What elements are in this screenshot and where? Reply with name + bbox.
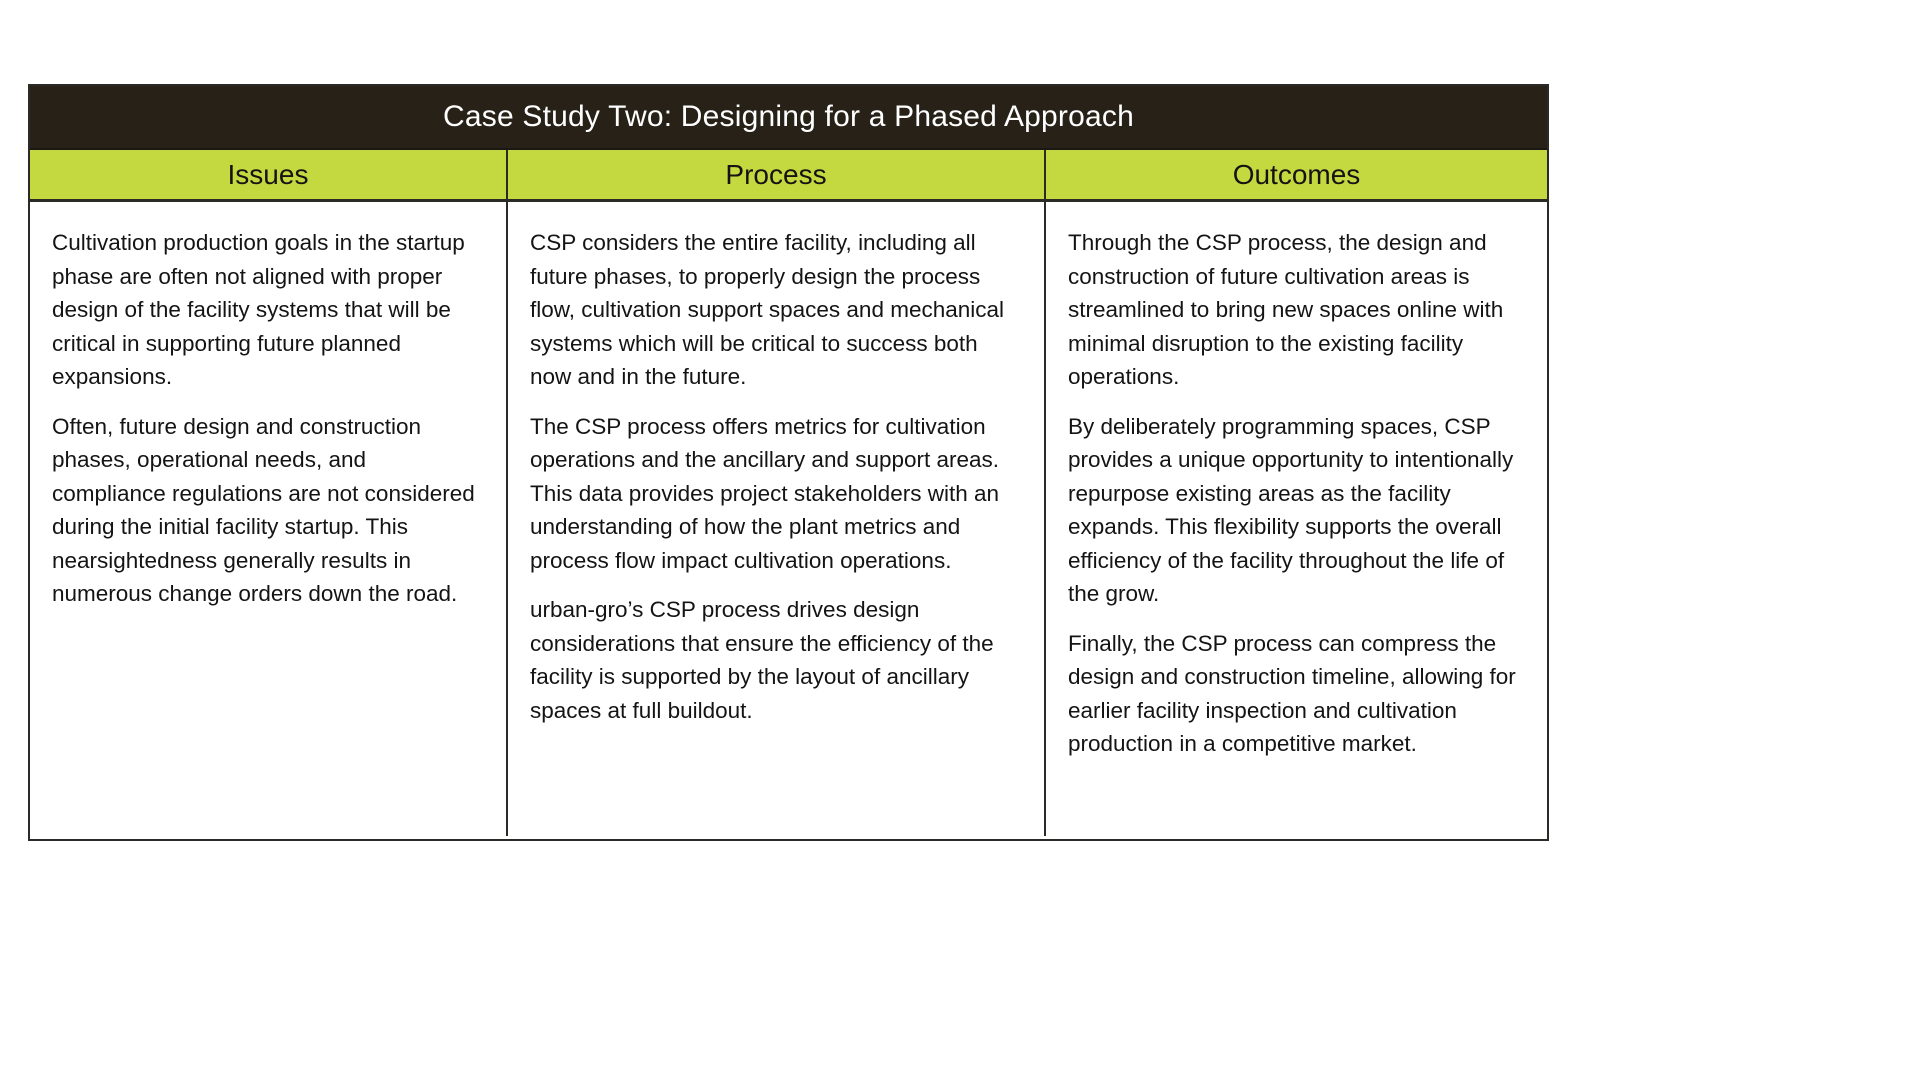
cell-process-paragraph: urban-gro’s CSP process drives design co… — [530, 593, 1022, 727]
column-header-row: Issues Process Outcomes — [30, 150, 1547, 202]
column-header-process-label: Process — [725, 161, 826, 189]
cell-process-paragraph: CSP considers the entire facility, inclu… — [530, 226, 1022, 394]
cell-outcomes-paragraph: Through the CSP process, the design and … — [1068, 226, 1525, 394]
column-header-process: Process — [508, 150, 1046, 199]
cell-outcomes-paragraph: By deliberately programming spaces, CSP … — [1068, 410, 1525, 611]
cell-outcomes-paragraph: Finally, the CSP process can compress th… — [1068, 627, 1525, 761]
cell-outcomes: Through the CSP process, the design and … — [1046, 202, 1547, 836]
cell-issues-paragraph: Often, future design and construction ph… — [52, 410, 484, 611]
table-body-row: Cultivation production goals in the star… — [30, 202, 1547, 836]
case-study-table: Case Study Two: Designing for a Phased A… — [28, 84, 1549, 841]
cell-process-paragraph: The CSP process offers metrics for culti… — [530, 410, 1022, 578]
cell-issues-paragraph: Cultivation production goals in the star… — [52, 226, 484, 394]
page-title: Case Study Two: Designing for a Phased A… — [443, 102, 1134, 132]
cell-issues: Cultivation production goals in the star… — [30, 202, 508, 836]
cell-process: CSP considers the entire facility, inclu… — [508, 202, 1046, 836]
page-root: Case Study Two: Designing for a Phased A… — [0, 0, 1920, 1080]
column-header-issues: Issues — [30, 150, 508, 199]
table-title-bar: Case Study Two: Designing for a Phased A… — [30, 86, 1547, 150]
column-header-outcomes-label: Outcomes — [1233, 161, 1361, 189]
column-header-issues-label: Issues — [228, 161, 309, 189]
column-header-outcomes: Outcomes — [1046, 150, 1547, 199]
